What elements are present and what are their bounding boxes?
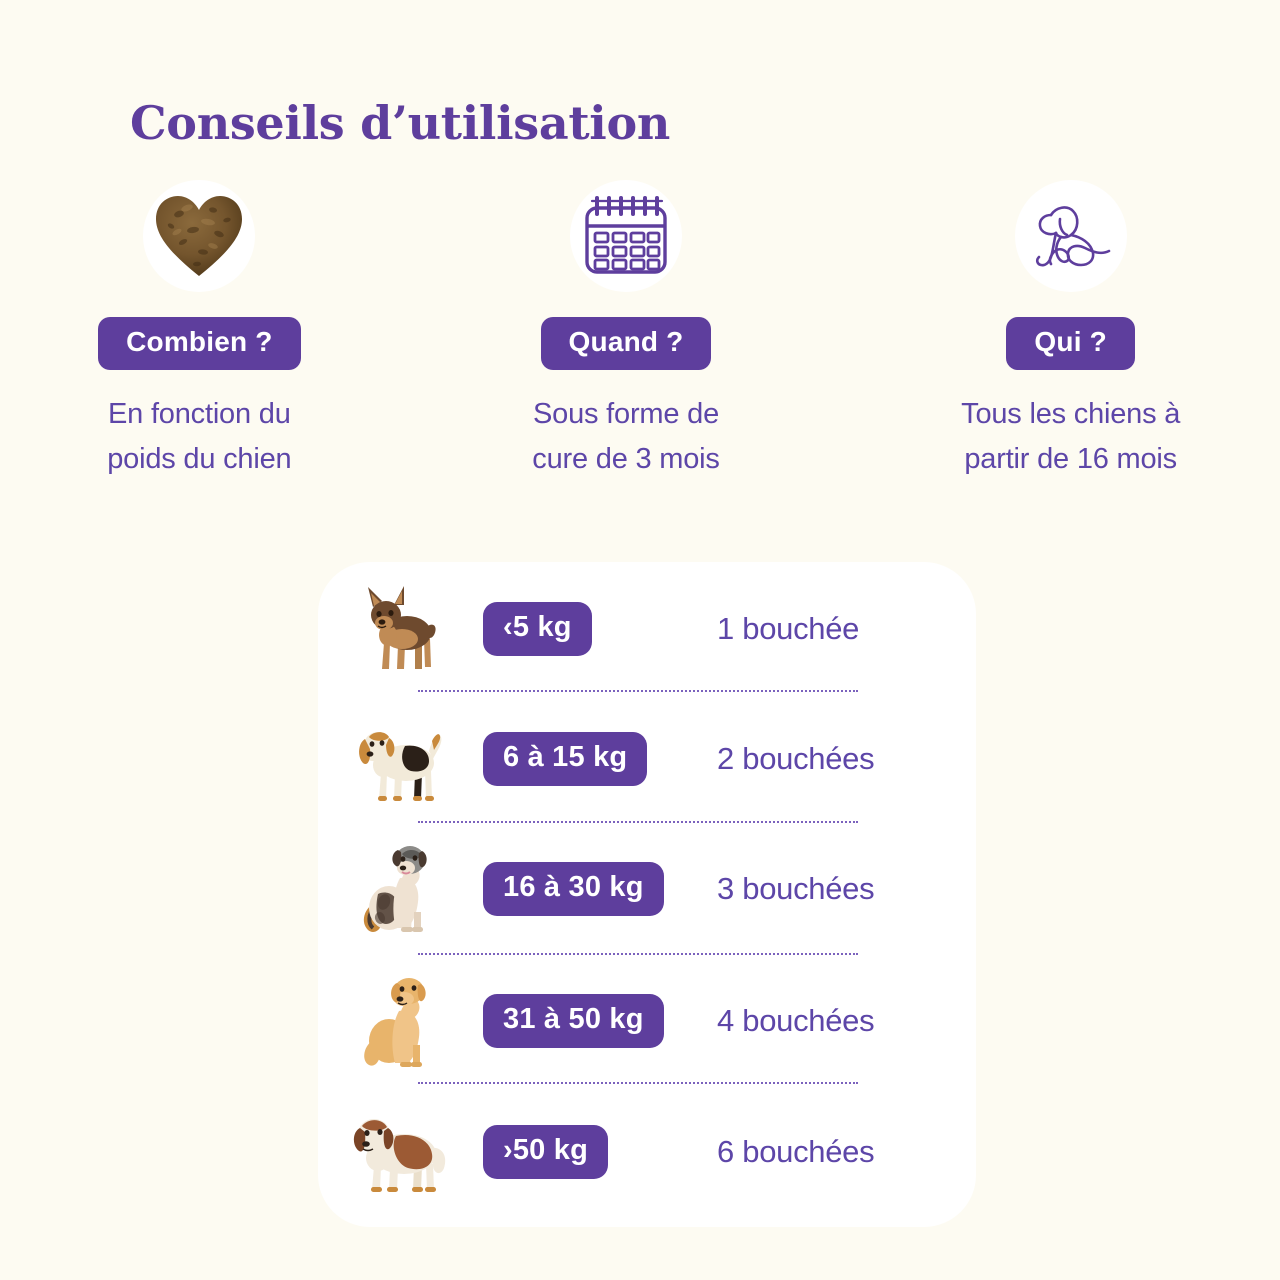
description-quand: Sous forme de cure de 3 mois [532,392,719,482]
icon-circle-combien [143,180,255,292]
dosage-card: ‹5 kg 1 bouchée [318,562,976,1227]
saint-bernard-icon [318,1087,483,1217]
row-divider [418,690,858,692]
amount-label: 6 bouchées [703,1134,976,1170]
amount-label: 3 bouchées [703,871,976,907]
calendar-icon [578,192,674,280]
amount-label: 1 bouchée [703,611,976,647]
weight-badge-cell: 6 à 15 kg [483,732,703,785]
row-divider [418,1082,858,1084]
badge-combien[interactable]: Combien ? [98,317,300,370]
weight-badge-cell: 16 à 30 kg [483,862,703,915]
advice-column-qui: Qui ? Tous les chiens à partir de 16 moi… [857,180,1280,482]
dosage-row: 16 à 30 kg 3 bouchées [318,824,976,954]
row-divider [418,821,858,823]
weight-badge[interactable]: 31 à 50 kg [483,994,664,1047]
dosage-row: ‹5 kg 1 bouchée [318,564,976,694]
row-divider [418,953,858,955]
golden-retriever-icon [318,956,483,1086]
amount-label: 4 bouchées [703,1003,976,1039]
chihuahua-icon [318,564,483,694]
amount-label: 2 bouchées [703,741,976,777]
page-title: Conseils d’utilisation [130,96,670,150]
dosage-row: 6 à 15 kg 2 bouchées [318,694,976,824]
advice-columns: Combien ? En fonction du poids du chien [0,180,1280,482]
weight-badge[interactable]: ›50 kg [483,1125,608,1178]
beagle-icon [318,694,483,824]
weight-badge[interactable]: 16 à 30 kg [483,862,664,915]
advice-column-quand: Quand ? Sous forme de cure de 3 mois [413,180,840,482]
dosage-row: ›50 kg 6 bouchées [318,1087,976,1217]
badge-quand[interactable]: Quand ? [541,317,712,370]
advice-column-combien: Combien ? En fonction du poids du chien [0,180,413,482]
australian-shepherd-icon [318,824,483,954]
icon-circle-qui [1015,180,1127,292]
description-combien: En fonction du poids du chien [107,392,291,482]
weight-badge[interactable]: 6 à 15 kg [483,732,647,785]
dosage-row: 31 à 50 kg 4 bouchées [318,956,976,1086]
sitting-dog-line-icon [1023,193,1119,279]
weight-badge-cell: ‹5 kg [483,602,703,655]
heart-kibble-icon [153,192,245,280]
icon-circle-quand [570,180,682,292]
weight-badge-cell: 31 à 50 kg [483,994,703,1047]
description-qui: Tous les chiens à partir de 16 mois [961,392,1180,482]
weight-badge-cell: ›50 kg [483,1125,703,1178]
badge-qui[interactable]: Qui ? [1006,317,1135,370]
weight-badge[interactable]: ‹5 kg [483,602,592,655]
